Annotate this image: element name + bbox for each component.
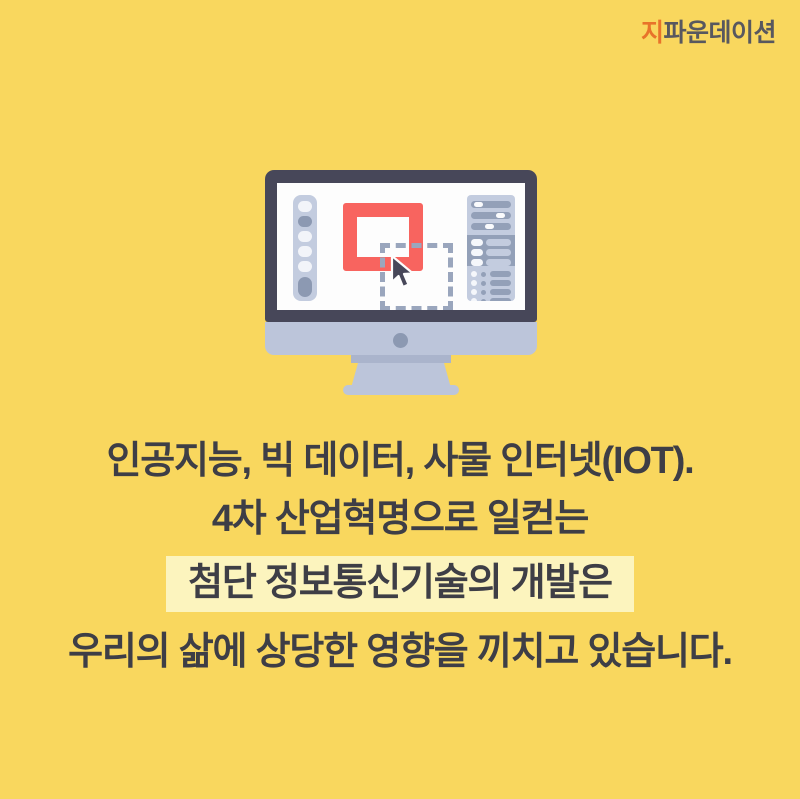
panel-list-bullet-3 [481, 290, 486, 295]
caption-line-1: 인공지능, 빅 데이터, 사물 인터넷(IOT). [0, 432, 800, 490]
panel-slider-2-knob [496, 213, 505, 218]
panel-list-bullet-4 [481, 299, 486, 301]
toolbar-rail [293, 195, 317, 301]
monitor-illustration [265, 170, 537, 390]
tool-pill-5 [298, 261, 312, 272]
caption-line-2: 4차 산업혁명으로 일컫는 [0, 490, 800, 548]
tool-pill-2-active [298, 216, 312, 227]
caption-line-3: 첨단 정보통신기술의 개발은 [0, 554, 800, 612]
properties-panel [467, 195, 515, 301]
panel-mid-bar-2 [486, 249, 511, 256]
panel-list-dot-1 [471, 271, 477, 277]
monitor-power-dot [393, 333, 408, 348]
panel-mid-toggle-2 [471, 249, 483, 256]
monitor-screen [277, 183, 525, 310]
panel-list-bar-3 [490, 289, 511, 295]
brand-logo-rest: 파운데이션 [663, 19, 776, 47]
panel-list-dot-3 [471, 289, 477, 295]
panel-slider-3 [471, 223, 511, 230]
monitor-foot [343, 385, 459, 395]
panel-list-bar-2 [490, 280, 511, 286]
panel-middle-group [467, 235, 515, 266]
brand-logo: 지파운데이션 [641, 21, 776, 46]
panel-mid-toggle-1 [471, 239, 483, 246]
tool-pill-1 [298, 201, 312, 212]
panel-list-bullet-2 [481, 281, 486, 286]
tool-pill-4 [298, 246, 312, 257]
caption-line-3-highlight: 첨단 정보통신기술의 개발은 [166, 556, 634, 612]
panel-list-bar-1 [490, 271, 511, 277]
caption-line-4: 우리의 삶에 상당한 영향을 끼치고 있습니다. [0, 623, 800, 681]
panel-mid-toggle-3 [471, 259, 483, 266]
tool-pill-3 [298, 231, 312, 242]
monitor-bezel [265, 170, 537, 322]
panel-list-dot-4 [471, 298, 477, 301]
panel-slider-1-knob [474, 202, 483, 207]
panel-list-dot-2 [471, 280, 477, 286]
cursor-arrow-icon [390, 255, 416, 289]
monitor-neck [351, 355, 451, 363]
panel-slider-3-knob [485, 224, 494, 229]
panel-mid-bar-1 [486, 239, 511, 246]
panel-list-bar-4 [490, 298, 511, 301]
panel-slider-1 [471, 201, 511, 208]
panel-slider-2 [471, 212, 511, 219]
panel-mid-bar-3 [486, 259, 511, 266]
brand-logo-accent: 지 [641, 19, 664, 47]
promo-card: 지파운데이션 [0, 0, 800, 799]
tool-pill-6-color-swatch [298, 277, 312, 297]
caption-block: 인공지능, 빅 데이터, 사물 인터넷(IOT). 4차 산업혁명으로 일컫는 … [0, 432, 800, 681]
panel-list-bullet-1 [481, 272, 486, 277]
